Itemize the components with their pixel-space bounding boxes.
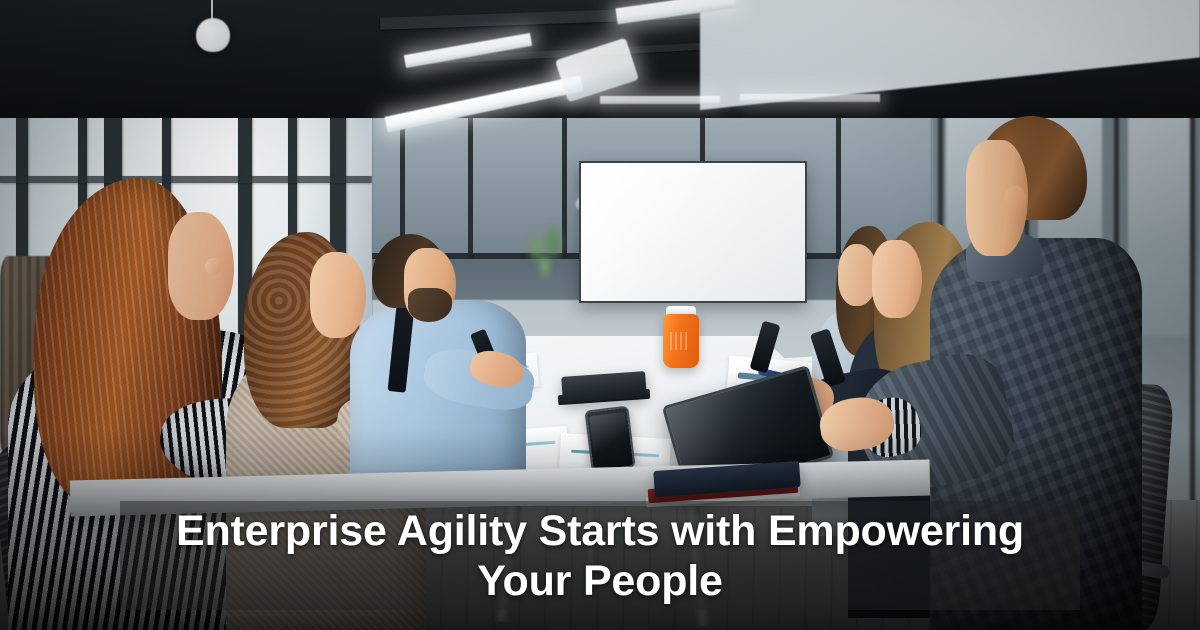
person-knit-sweater-face [310,252,366,338]
potted-plant [520,218,574,290]
person-striped-blouse-face [168,212,234,320]
orange-drink-bottle [663,314,699,368]
table-leg [586,500,596,600]
whiteboard [579,161,807,303]
strip-light [600,96,720,104]
banner-image: Enterprise Agility Starts with Empowerin… [0,0,1200,630]
person-charcoal-shirt-ear [1004,186,1026,214]
partition-mullion [1190,60,1195,530]
person-striped-blouse-profile [205,258,221,275]
white-pendant-lamp [196,18,230,52]
window-transom [0,176,372,183]
person-navy-blazer-face [872,240,922,318]
pendant-lamp-cord [211,0,213,20]
bottle-label [670,332,688,350]
smartphone-on-table [584,406,635,473]
whiteboard-sheen [581,163,805,301]
phone-screen [589,412,630,462]
strip-light [740,94,880,102]
